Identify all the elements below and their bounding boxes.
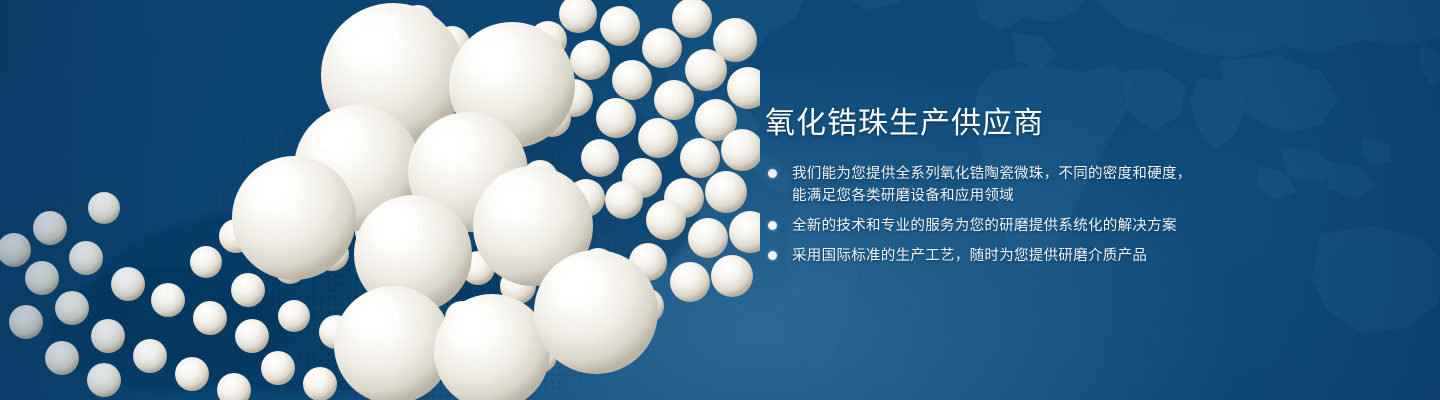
feature-bullet-text: 全新的技术和专业的服务为您的研磨提供系统化的解决方案 <box>792 215 1285 237</box>
banner-copy: 氧化锆珠生产供应商 我们能为您提供全系列氧化锆陶瓷微珠，不同的密度和硬度， 能满… <box>765 104 1285 267</box>
feature-bullet-text: 采用国际标准的生产工艺，随时为您提供研磨介质产品 <box>792 245 1285 267</box>
hero-banner: 氧化锆珠生产供应商 我们能为您提供全系列氧化锆陶瓷微珠，不同的密度和硬度， 能满… <box>0 0 1440 400</box>
bullet-dot-icon <box>768 221 777 230</box>
feature-bullet-item: 我们能为您提供全系列氧化锆陶瓷微珠，不同的密度和硬度， 能满足您各类研磨设备和应… <box>765 163 1285 207</box>
bullet-dot-icon <box>768 169 777 178</box>
feature-bullet-text: 我们能为您提供全系列氧化锆陶瓷微珠，不同的密度和硬度， <box>792 163 1285 185</box>
feature-bullet-text-line2: 能满足您各类研磨设备和应用领域 <box>792 185 1285 207</box>
bullet-dot-icon <box>768 251 777 260</box>
feature-bullet-item: 采用国际标准的生产工艺，随时为您提供研磨介质产品 <box>765 245 1285 267</box>
feature-bullet-item: 全新的技术和专业的服务为您的研磨提供系统化的解决方案 <box>765 215 1285 237</box>
feature-bullet-list: 我们能为您提供全系列氧化锆陶瓷微珠，不同的密度和硬度， 能满足您各类研磨设备和应… <box>765 163 1285 267</box>
banner-headline: 氧化锆珠生产供应商 <box>765 104 1285 144</box>
